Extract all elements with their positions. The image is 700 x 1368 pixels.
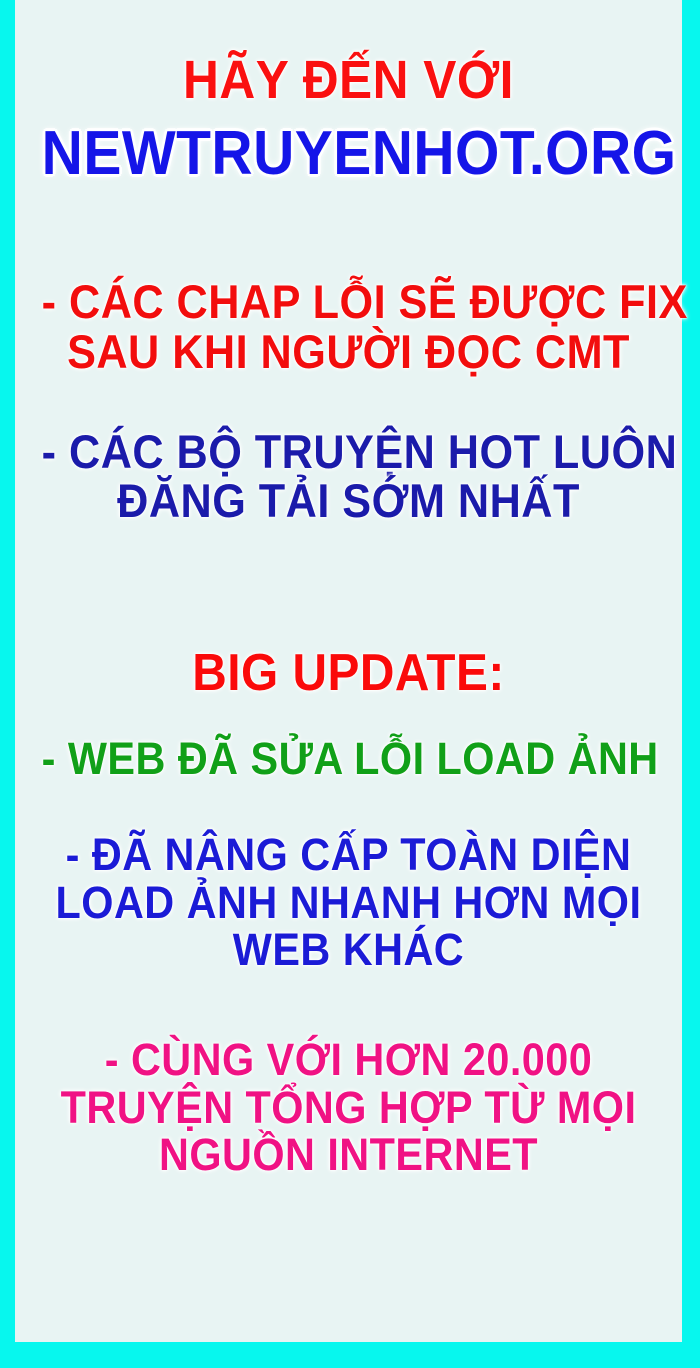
update-count-block: - CÙNG VỚI HƠN 20.000 TRUYỆN TỔNG HỢP TỪ… [15,1036,682,1179]
site-name-text: NEWTRUYENHOT.ORG [42,121,656,187]
headline-welcome: HÃY ĐẾN VỚI [42,52,656,109]
update-green-line-1: - WEB ĐÃ SỬA LỖI LOAD ẢNH [42,735,656,783]
update-count-line-1: - CÙNG VỚI HƠN 20.000 [42,1036,656,1084]
headline-big-update: BIG UPDATE: [42,646,656,701]
update-upgrade-block: - ĐÃ NÂNG CẤP TOÀN DIỆN LOAD ẢNH NHANH H… [15,831,682,974]
update-count-line-2: TRUYỆN TỔNG HỢP TỪ MỌI [42,1084,656,1132]
notice-fix-block: - CÁC CHAP LỖI SẼ ĐƯỢC FIX SAU KHI NGƯỜI… [15,277,682,377]
poster-panel: HÃY ĐẾN VỚI NEWTRUYENHOT.ORG - CÁC CHAP … [15,0,682,1342]
update-count-line-3: NGUỒN INTERNET [42,1131,656,1179]
notice-fix-line-1: - CÁC CHAP LỖI SẼ ĐƯỢC FIX [42,277,656,327]
promo-poster: HÃY ĐẾN VỚI NEWTRUYENHOT.ORG - CÁC CHAP … [0,0,700,1368]
notice-hot-line-2: ĐĂNG TẢI SỚM NHẤT [42,476,656,526]
update-upgrade-line-1: - ĐÃ NÂNG CẤP TOÀN DIỆN [42,831,656,879]
update-green-block: - WEB ĐÃ SỬA LỖI LOAD ẢNH [15,735,682,783]
update-upgrade-line-3: WEB KHÁC [42,926,656,974]
update-upgrade-line-2: LOAD ẢNH NHANH HƠN MỌI [42,879,656,927]
notice-hot-block: - CÁC BỘ TRUYỆN HOT LUÔN ĐĂNG TẢI SỚM NH… [15,427,682,527]
notice-fix-line-2: SAU KHI NGƯỜI ĐỌC CMT [42,327,656,377]
notice-hot-line-1: - CÁC BỘ TRUYỆN HOT LUÔN [42,427,656,477]
